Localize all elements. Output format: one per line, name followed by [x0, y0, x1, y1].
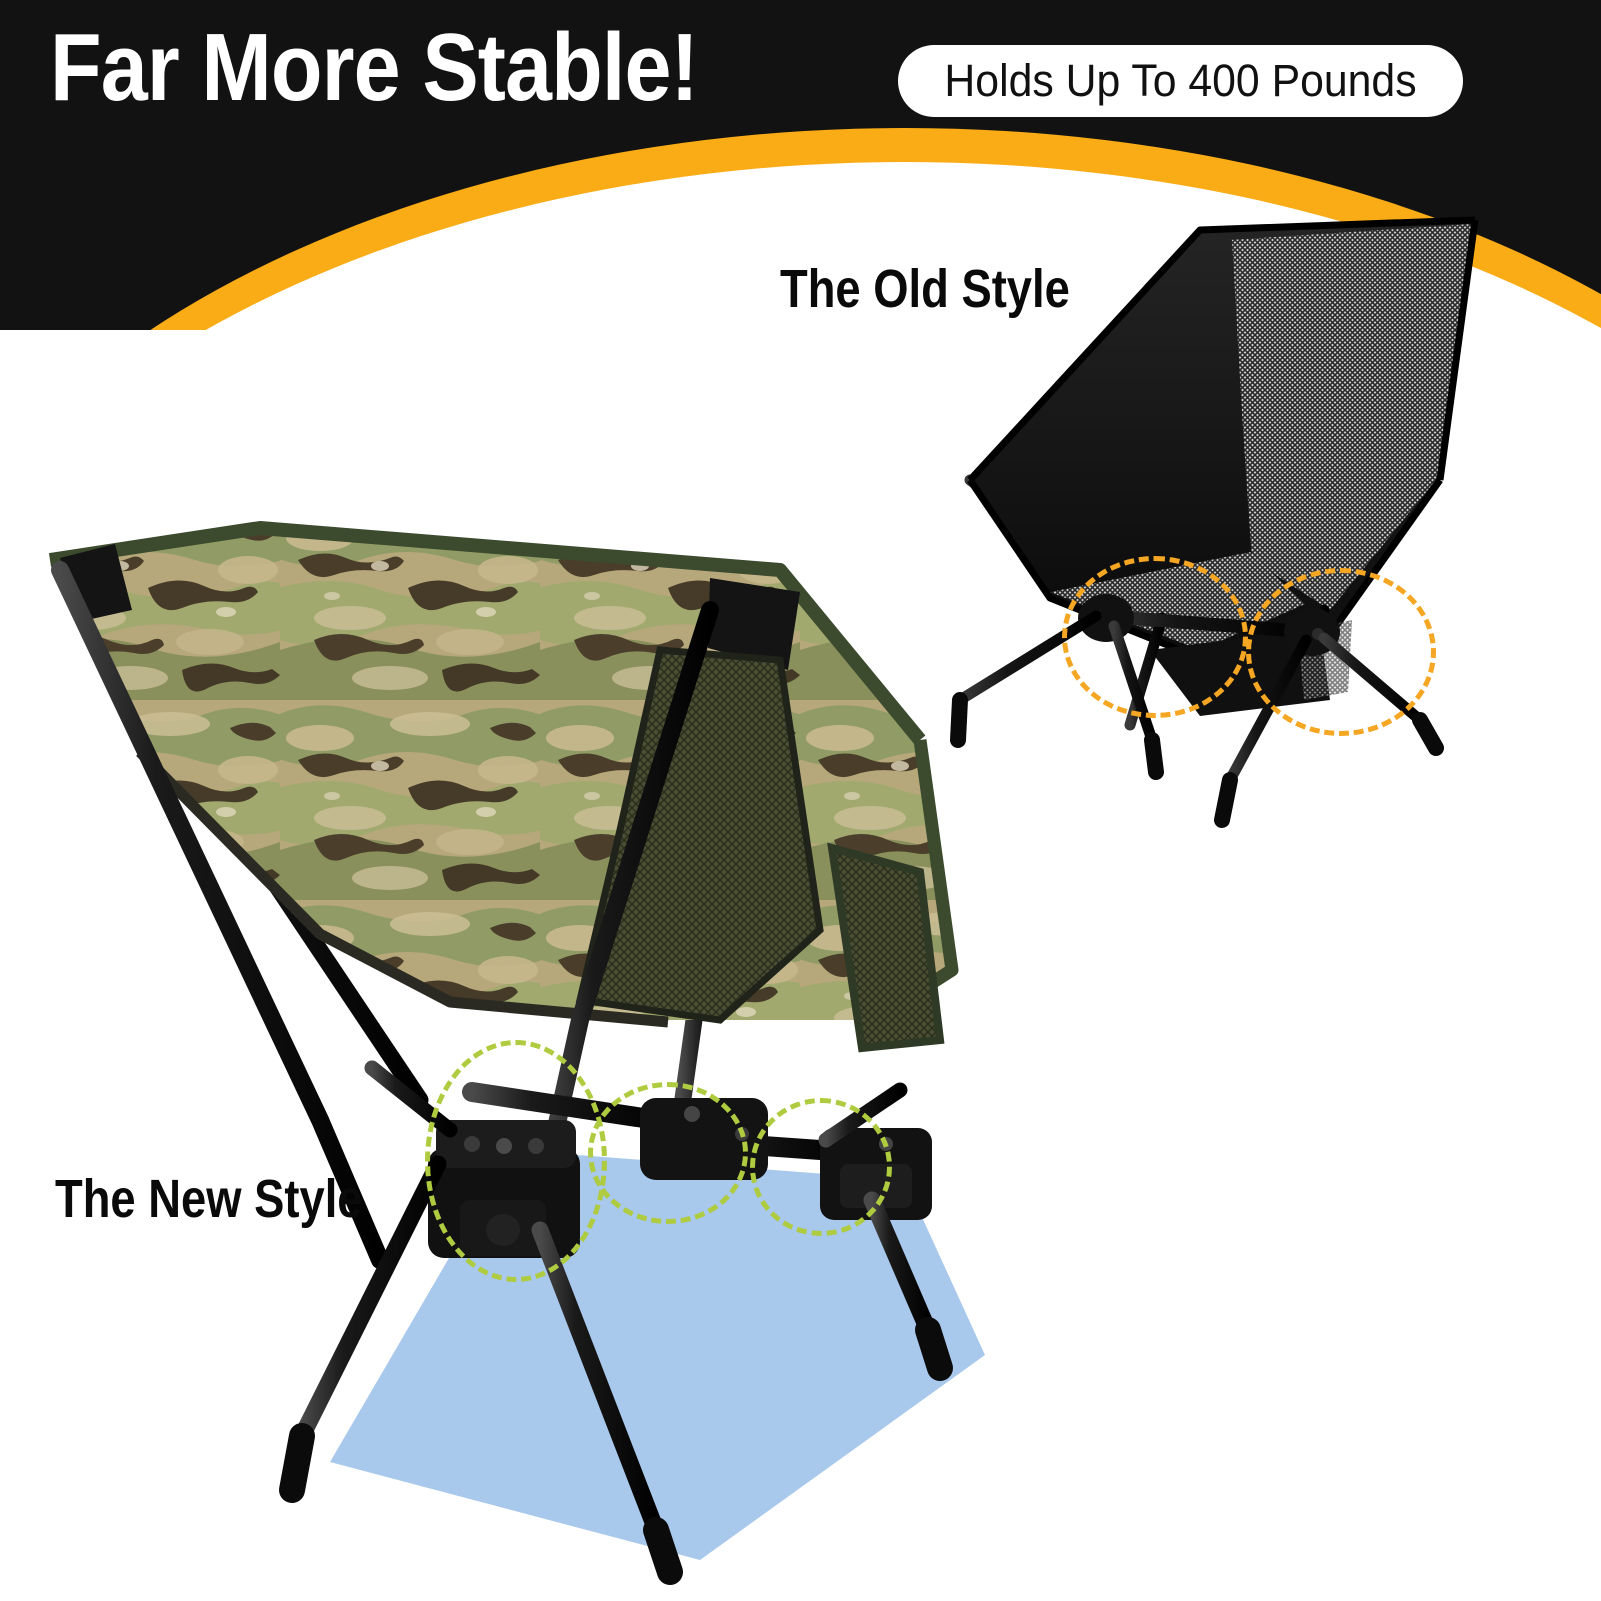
new-chair-joint-highlight-3 — [750, 1098, 892, 1236]
old-style-label: The Old Style — [780, 258, 1070, 320]
old-chair-joint-highlight-2 — [1246, 568, 1436, 736]
new-chair-joint-highlight-2 — [588, 1082, 748, 1224]
promo-image-root: Far More Stable! Holds Up To 400 Pounds — [0, 0, 1601, 1601]
new-chair-leg-front-right — [540, 1230, 656, 1530]
old-chair-joint-highlight-1 — [1062, 556, 1248, 718]
capacity-badge: Holds Up To 400 Pounds — [898, 45, 1463, 117]
new-style-label: The New Style — [55, 1168, 363, 1230]
new-chair-camo-shell — [50, 528, 952, 1024]
new-chair-joint-highlight-1 — [425, 1040, 607, 1282]
capacity-badge-label: Holds Up To 400 Pounds — [944, 55, 1416, 107]
new-chair-foot-rear-right — [928, 1330, 940, 1368]
old-chair-mesh-back — [1230, 224, 1472, 610]
new-chair-foot-front-right — [656, 1530, 670, 1572]
new-chair-foot-front-left — [292, 1436, 302, 1490]
page-headline: Far More Stable! — [50, 18, 698, 118]
